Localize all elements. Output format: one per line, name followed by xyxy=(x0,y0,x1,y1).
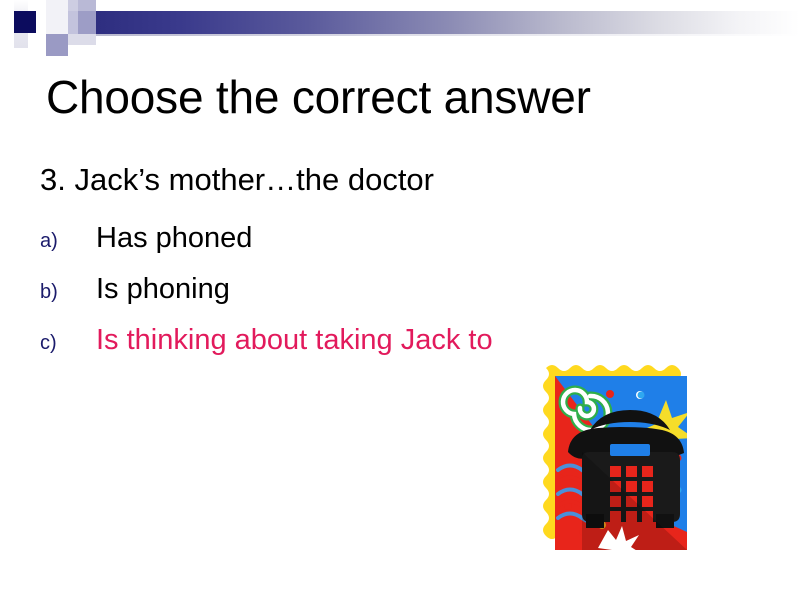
answer-option-c[interactable]: c) Is thinking about taking Jack to xyxy=(40,324,493,357)
answer-marker-a: a) xyxy=(40,230,96,253)
answer-text-c: Is thinking about taking Jack to xyxy=(96,324,493,357)
corner-square-navy xyxy=(14,11,36,33)
telephone-clipart xyxy=(538,362,704,564)
answer-marker-c: c) xyxy=(40,332,96,355)
page-title: Choose the correct answer xyxy=(46,72,591,123)
answer-text-b: Is phoning xyxy=(96,273,230,306)
gradient-bar xyxy=(96,11,800,34)
corner-square-pale-tall xyxy=(46,0,68,34)
slide-canvas: Choose the correct answer 3. Jack’s moth… xyxy=(0,0,800,600)
answer-option-a[interactable]: a) Has phoned xyxy=(40,222,252,255)
answer-marker-b: b) xyxy=(40,281,96,304)
decor-dot-red-1 xyxy=(606,390,614,398)
answer-text-a: Has phoned xyxy=(96,222,252,255)
corner-square-lower-pale xyxy=(68,34,96,45)
gradient-bar-shadow xyxy=(96,34,800,36)
phone-display xyxy=(610,444,650,456)
corner-square-deep-lavender xyxy=(78,11,96,34)
answer-option-b[interactable]: b) Is phoning xyxy=(40,273,230,306)
corner-square-right-pale xyxy=(78,0,96,11)
decor-dot-blue-2 xyxy=(638,392,645,399)
question-text: 3. Jack’s mother…the doctor xyxy=(40,162,434,198)
corner-square-lower-lavender xyxy=(46,34,68,56)
